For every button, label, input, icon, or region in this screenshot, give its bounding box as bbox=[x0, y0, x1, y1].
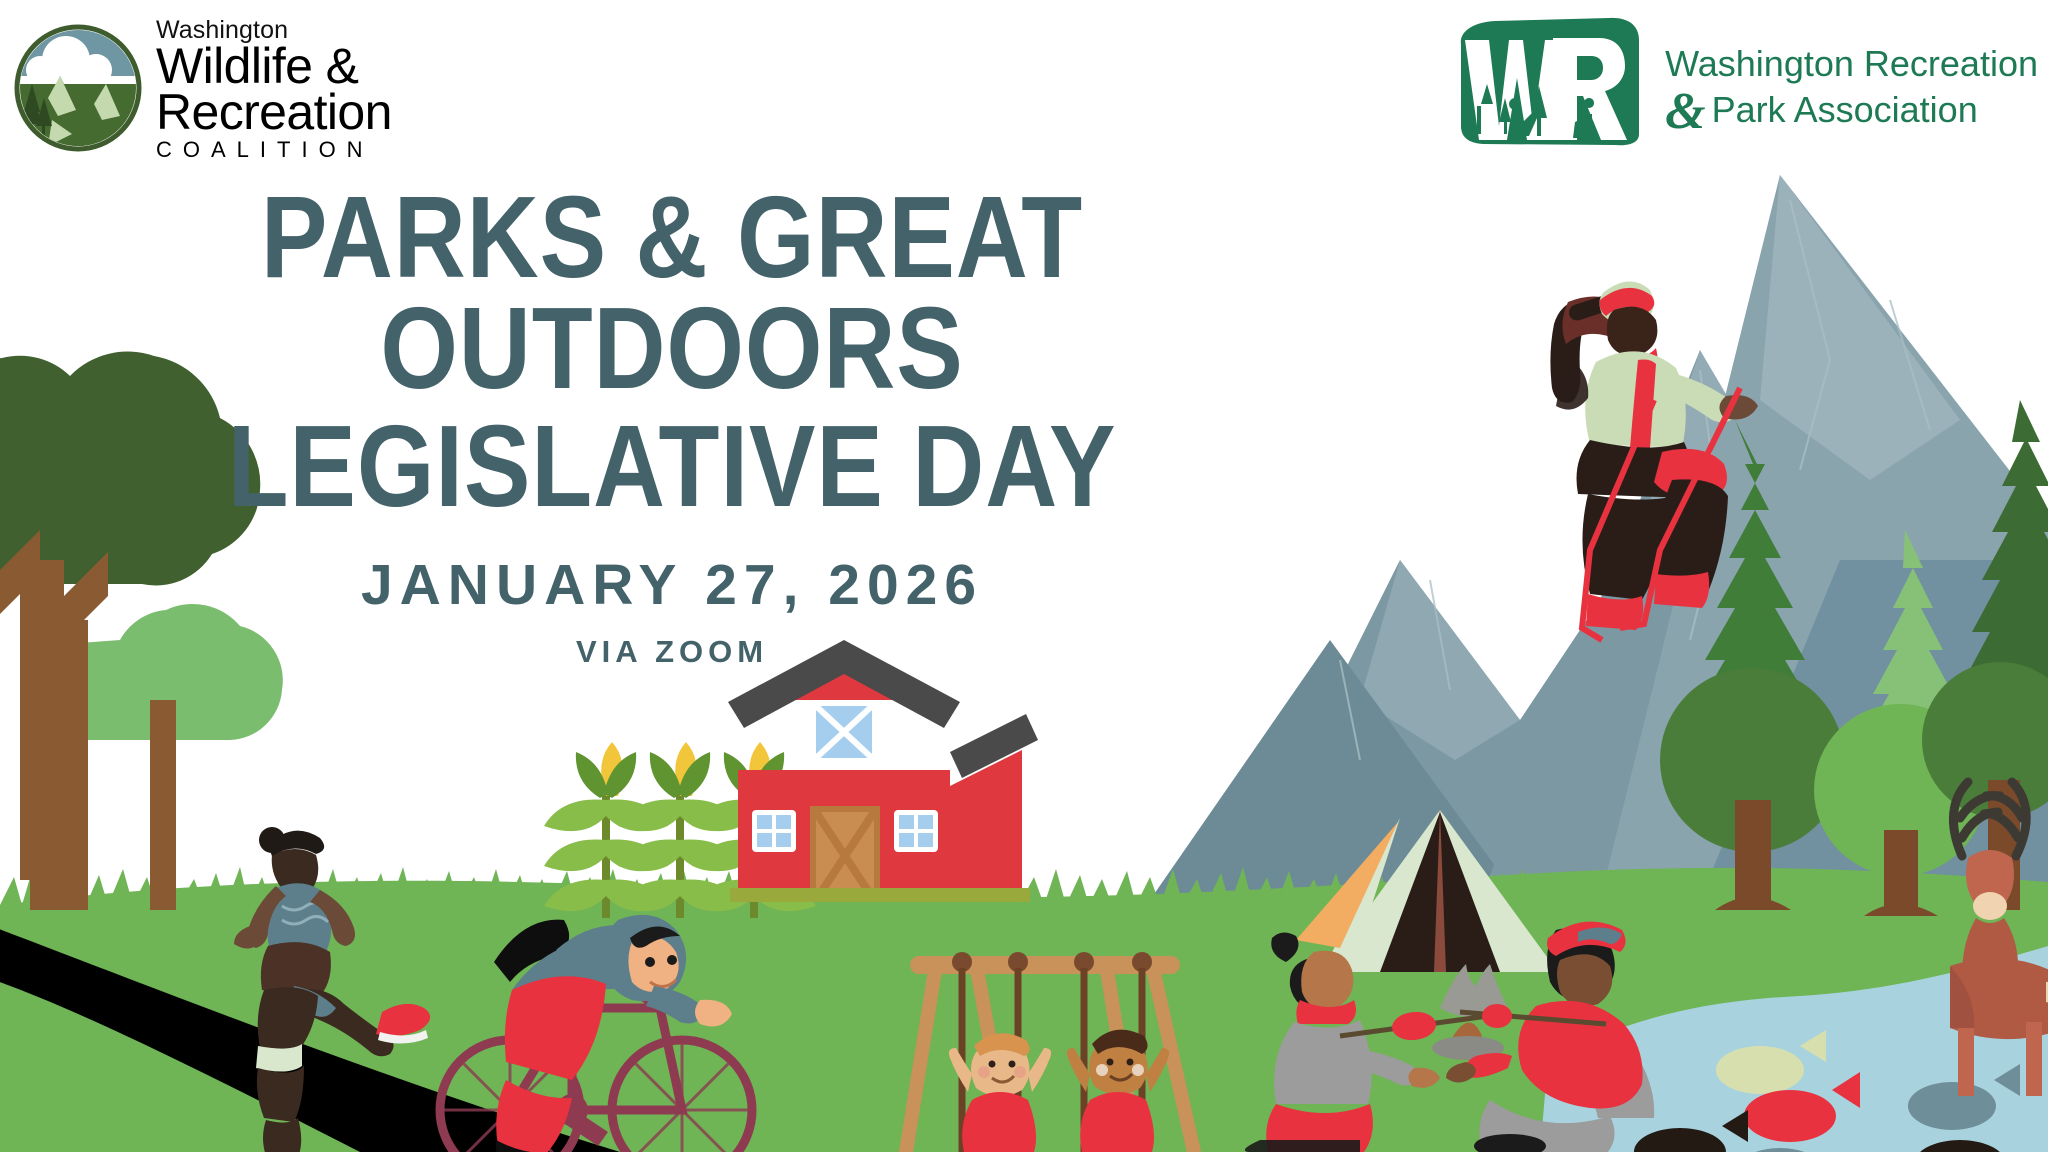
poster-canvas: Washington Wildlife & Recreation COALITI… bbox=[0, 0, 2048, 1152]
wwrc-line-4: COALITION bbox=[156, 139, 392, 161]
wrpa-wordmark: Washington Recreation & Park Association bbox=[1665, 14, 2038, 136]
red-barn-icon bbox=[728, 640, 1038, 902]
wrpa-monogram-icon bbox=[1449, 14, 1649, 146]
wwrc-wordmark: Washington Wildlife & Recreation COALITI… bbox=[156, 14, 392, 161]
wrpa-line-2: Park Association bbox=[1712, 90, 1978, 130]
washington-wildlife-and-recreation-coalition-logo[interactable]: Washington Wildlife & Recreation COALITI… bbox=[14, 14, 392, 161]
wrpa-ampersand: & bbox=[1665, 86, 1705, 138]
wwrc-line-3: Recreation bbox=[156, 87, 392, 137]
deciduous-tree-icon bbox=[0, 352, 283, 910]
mountain-circle-icon bbox=[14, 24, 142, 152]
wrpa-line-1: Washington Recreation bbox=[1665, 44, 2038, 84]
washington-recreation-and-park-association-logo[interactable]: Washington Recreation & Park Association bbox=[1449, 14, 2038, 146]
outdoor-recreation-illustration bbox=[0, 0, 2048, 1152]
